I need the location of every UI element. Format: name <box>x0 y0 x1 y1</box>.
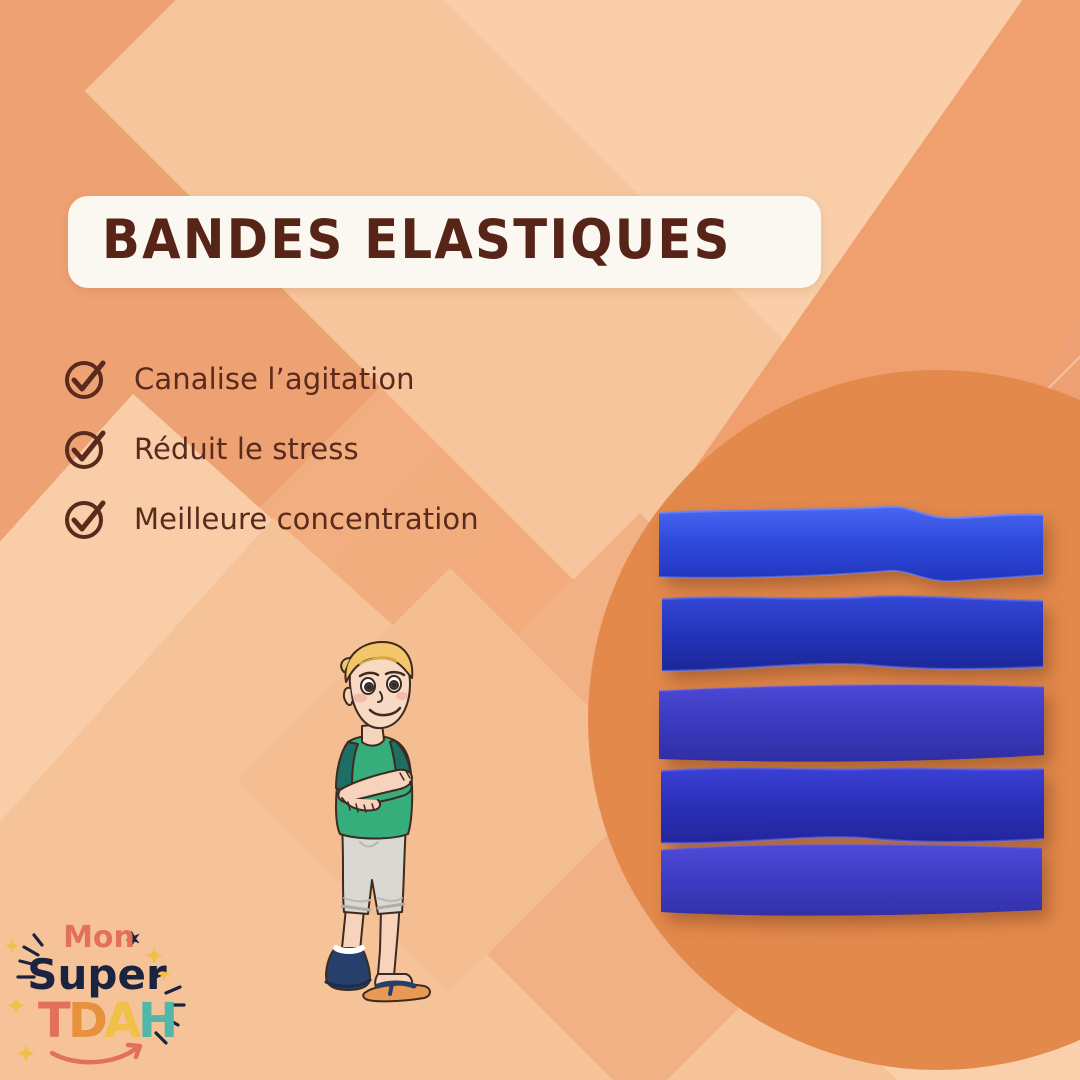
svg-text:A: A <box>104 993 141 1049</box>
benefit-label: Canalise l’agitation <box>134 362 415 396</box>
check-circle-icon <box>62 426 108 472</box>
elastic-band <box>658 840 1046 928</box>
poster-canvas: BANDES ELASTIQUES Canalise l’agitation R… <box>0 0 1080 1080</box>
svg-text:T: T <box>38 993 71 1049</box>
title-pill: BANDES ELASTIQUES <box>68 196 821 288</box>
benefit-item: Meilleure concentration <box>62 484 479 554</box>
logo-line-tdah: T D A H <box>38 993 178 1049</box>
benefit-item: Réduit le stress <box>62 414 479 484</box>
logo-arrow-icon <box>52 1047 138 1062</box>
svg-text:H: H <box>138 993 178 1049</box>
elastic-band <box>656 683 1048 775</box>
check-circle-icon <box>62 356 108 402</box>
svg-text:D: D <box>68 993 108 1049</box>
product-bands <box>655 505 1055 920</box>
benefit-label: Meilleure concentration <box>134 502 479 536</box>
benefit-item: Canalise l’agitation <box>62 344 479 414</box>
logo-line-super: Super <box>27 950 167 999</box>
brand-logo[interactable]: Mon Super T D A H <box>4 905 194 1075</box>
page-title: BANDES ELASTIQUES <box>102 213 732 267</box>
benefits-list: Canalise l’agitation Réduit le stress Me… <box>62 344 479 554</box>
boy-illustration <box>282 630 482 1005</box>
elastic-band <box>655 505 1047 595</box>
elastic-band <box>659 593 1047 685</box>
check-circle-icon <box>62 496 108 542</box>
benefit-label: Réduit le stress <box>134 432 359 466</box>
